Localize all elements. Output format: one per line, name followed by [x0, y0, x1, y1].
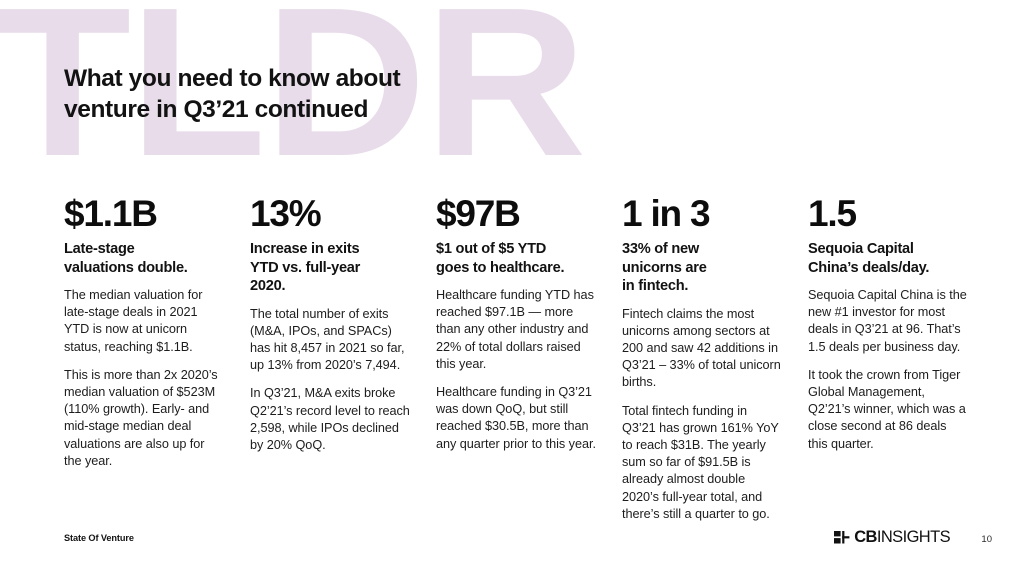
stat-column-2: 13% Increase in exits YTD vs. full-year …	[250, 193, 436, 523]
logo-text-cb: CB	[854, 528, 877, 546]
stat-body: The total number of exits (M&A, IPOs, an…	[250, 306, 410, 455]
cbinsights-mark-icon	[834, 531, 850, 544]
stat-body: Fintech claims the most unicorns among s…	[622, 306, 782, 523]
body-paragraph: In Q3’21, M&A exits broke Q2’21’s record…	[250, 385, 410, 454]
stat-value: 1 in 3	[622, 193, 782, 235]
stat-column-5: 1.5 Sequoia Capital China’s deals/day. S…	[808, 193, 994, 523]
stat-subhead: 33% of new unicorns are in fintech.	[622, 240, 782, 296]
stat-column-1: $1.1B Late-stage valuations double. The …	[64, 193, 250, 523]
stat-value: $1.1B	[64, 193, 224, 235]
body-paragraph: Healthcare funding YTD has reached $97.1…	[436, 287, 596, 373]
stat-subhead: $1 out of $5 YTD goes to healthcare.	[436, 240, 596, 277]
body-paragraph: Total fintech funding in Q3’21 has grown…	[622, 403, 782, 523]
stat-value: 13%	[250, 193, 410, 235]
body-paragraph: Fintech claims the most unicorns among s…	[622, 306, 782, 392]
footer-report-label: State Of Venture	[64, 533, 134, 543]
page-number: 10	[981, 534, 992, 545]
body-paragraph: It took the crown from Tiger Global Mana…	[808, 367, 968, 453]
stat-subhead: Increase in exits YTD vs. full-year 2020…	[250, 240, 410, 296]
cbinsights-logo: CBINSIGHTS	[834, 529, 950, 545]
stat-body: Healthcare funding YTD has reached $97.1…	[436, 287, 596, 453]
body-paragraph: Healthcare funding in Q3’21 was down QoQ…	[436, 384, 596, 453]
stat-column-3: $97B $1 out of $5 YTD goes to healthcare…	[436, 193, 622, 523]
body-paragraph: Sequoia Capital China is the new #1 inve…	[808, 287, 968, 356]
slide-canvas: TLDR What you need to know about venture…	[0, 0, 1036, 569]
body-paragraph: This is more than 2x 2020’s median valua…	[64, 367, 224, 470]
stat-body: The median valuation for late-stage deal…	[64, 287, 224, 470]
stat-subhead: Late-stage valuations double.	[64, 240, 224, 277]
cbinsights-wordmark: CBINSIGHTS	[854, 529, 950, 545]
stat-subhead: Sequoia Capital China’s deals/day.	[808, 240, 968, 277]
stat-value: 1.5	[808, 193, 968, 235]
stat-value: $97B	[436, 193, 596, 235]
body-paragraph: The median valuation for late-stage deal…	[64, 287, 224, 356]
body-paragraph: The total number of exits (M&A, IPOs, an…	[250, 306, 410, 375]
logo-text-insights: INSIGHTS	[877, 528, 950, 546]
stat-column-4: 1 in 3 33% of new unicorns are in fintec…	[622, 193, 808, 523]
stat-columns: $1.1B Late-stage valuations double. The …	[64, 193, 1004, 523]
page-title: What you need to know about venture in Q…	[64, 63, 484, 125]
stat-body: Sequoia Capital China is the new #1 inve…	[808, 287, 968, 453]
